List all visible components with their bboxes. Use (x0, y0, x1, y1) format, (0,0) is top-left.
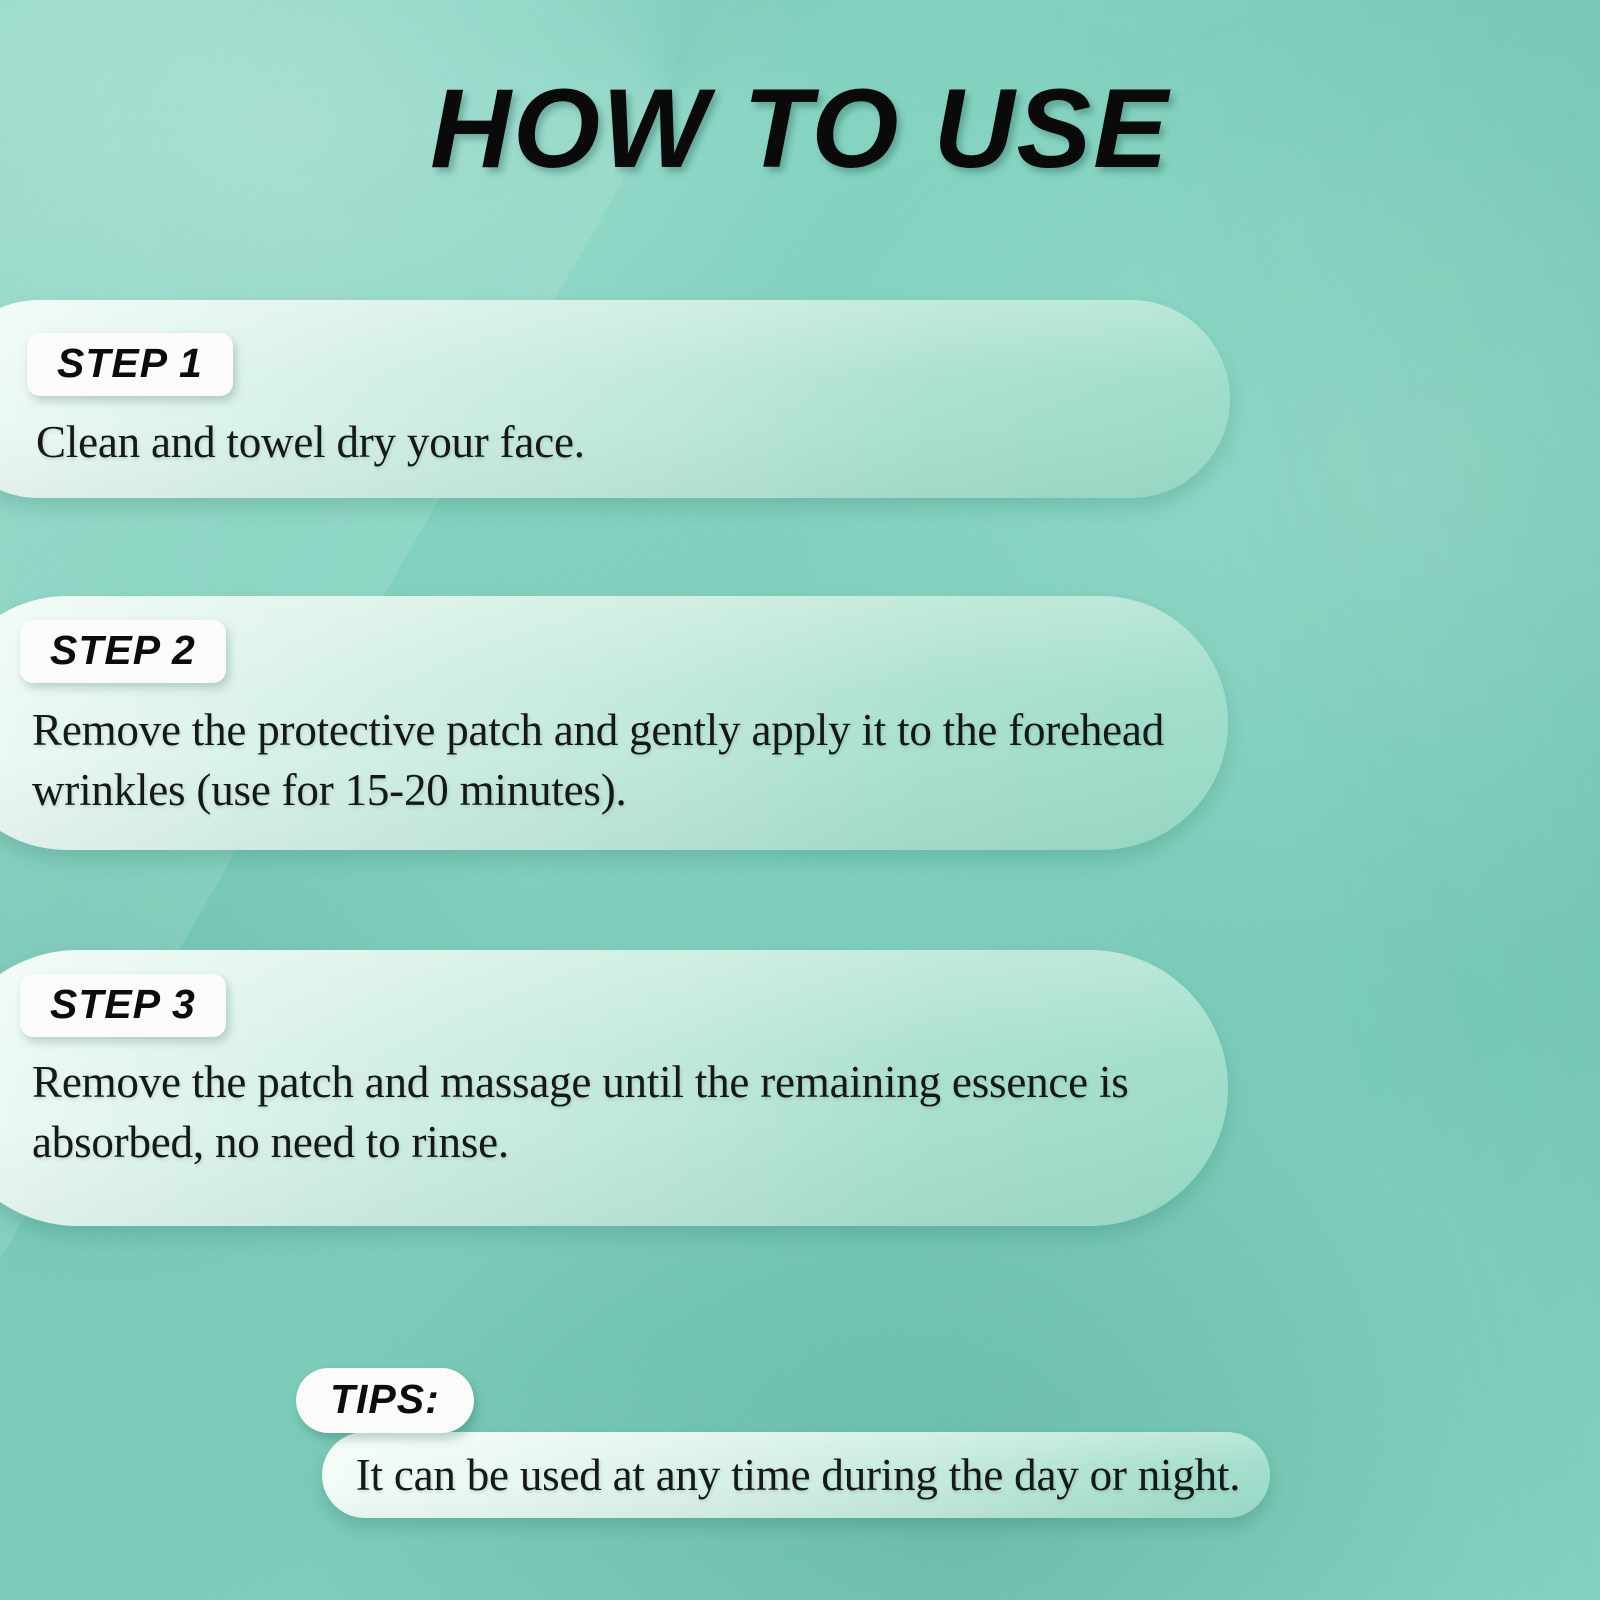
step-body-2: Remove the protective patch and gently a… (32, 700, 1182, 820)
tips-badge: TIPS: (296, 1368, 474, 1433)
step-badge-1: STEP 1 (27, 333, 233, 396)
step-body-3: Remove the patch and massage until the r… (32, 1052, 1152, 1172)
how-to-use-poster: HOW TO USE STEP 1 Clean and towel dry yo… (0, 0, 1600, 1600)
tips-body: It can be used at any time during the da… (348, 1447, 1248, 1503)
step-body-1: Clean and towel dry your face. (36, 412, 1186, 472)
step-badge-2: STEP 2 (20, 620, 226, 683)
step-badge-3: STEP 3 (20, 974, 226, 1037)
page-title: HOW TO USE (0, 64, 1600, 193)
